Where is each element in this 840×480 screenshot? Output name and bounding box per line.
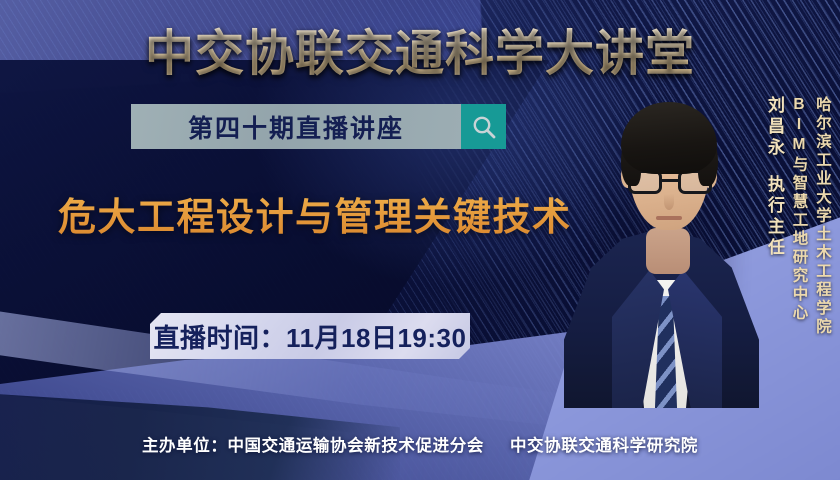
speaker-title: 执行主任 — [766, 175, 783, 259]
speaker-portrait — [568, 78, 748, 408]
broadcast-time-text: 直播时间：11月18日19:30 — [154, 318, 467, 355]
speaker-name-block: 刘昌永 执行主任 — [766, 96, 783, 259]
organizer-name-2: 中交协联交通科学研究院 — [510, 437, 698, 455]
speaker-info: 哈尔滨工业大学土木工程学院 BIM与智慧工地研究中心 刘昌永 执行主任 — [766, 96, 834, 337]
speaker-affiliation-line-1: 哈尔滨工业大学土木工程学院 — [811, 96, 835, 337]
search-icon[interactable] — [461, 104, 506, 149]
speaker-name: 刘昌永 — [766, 96, 783, 159]
live-broadcast-poster: 中交协联交通科学大讲堂 第四十期直播讲座 危大工程设计与管理关键技术 直播时间：… — [0, 0, 840, 480]
speaker-affiliation-line-2: BIM与智慧工地研究中心 — [787, 96, 811, 323]
footer-organizers: 主办单位：中国交通运输协会新技术促进分会中交协联交通科学研究院 — [0, 432, 840, 456]
portrait-glasses-bridge — [662, 179, 678, 182]
page-title: 中交协联交通科学大讲堂 — [0, 14, 840, 85]
portrait-neck — [646, 228, 690, 274]
portrait-nose — [664, 194, 674, 210]
portrait-mouth — [656, 216, 682, 220]
organizer-name-1: 中国交通运输协会新技术促进分会 — [227, 437, 484, 455]
lecture-headline: 危大工程设计与管理关键技术 — [58, 186, 572, 241]
organizer-label: 主办单位： — [142, 437, 228, 455]
broadcast-time-badge: 直播时间：11月18日19:30 — [150, 313, 470, 359]
episode-label: 第四十期直播讲座 — [131, 104, 461, 149]
episode-banner: 第四十期直播讲座 — [131, 104, 506, 149]
